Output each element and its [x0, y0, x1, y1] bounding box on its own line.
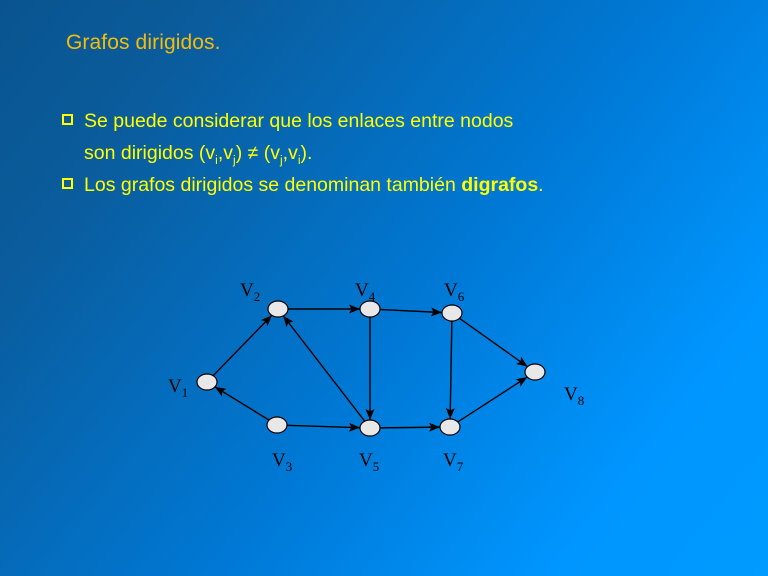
slide: Grafos dirigidos. Se puede considerar qu…: [0, 0, 768, 576]
graph-node-v7: [440, 419, 460, 435]
directed-graph-diagram: [0, 0, 768, 576]
graph-node-v2: [268, 301, 288, 317]
graph-edge-v5-to-v2: [284, 316, 365, 421]
graph-node-v6: [442, 305, 462, 321]
graph-node-v1: [197, 374, 217, 390]
graph-node-label-v6: V6: [444, 280, 464, 305]
graph-edge-v6-to-v7: [450, 321, 452, 419]
graph-edge-v5-to-v7: [380, 427, 440, 428]
graph-node-label-v8: V8: [564, 384, 584, 409]
graph-node-label-v1: V1: [168, 376, 188, 401]
graph-node-label-v7: V7: [443, 450, 463, 475]
node-layer: [197, 301, 545, 436]
edge-layer: [213, 309, 527, 428]
graph-edge-v6-to-v8: [459, 318, 527, 366]
graph-edge-v3-to-v5: [287, 425, 360, 427]
graph-node-label-v4: V4: [355, 280, 375, 305]
graph-node-v5: [360, 420, 380, 436]
graph-edge-v1-to-v2: [213, 316, 271, 376]
graph-node-v8: [525, 364, 545, 380]
graph-node-v3: [267, 417, 287, 433]
graph-node-label-v2: V2: [240, 280, 260, 305]
graph-edge-v7-to-v8: [458, 377, 527, 422]
graph-node-label-v5: V5: [359, 450, 379, 475]
graph-edge-v4-to-v6: [380, 309, 442, 312]
graph-edge-v3-to-v1: [215, 387, 269, 420]
graph-node-label-v3: V3: [272, 450, 292, 475]
